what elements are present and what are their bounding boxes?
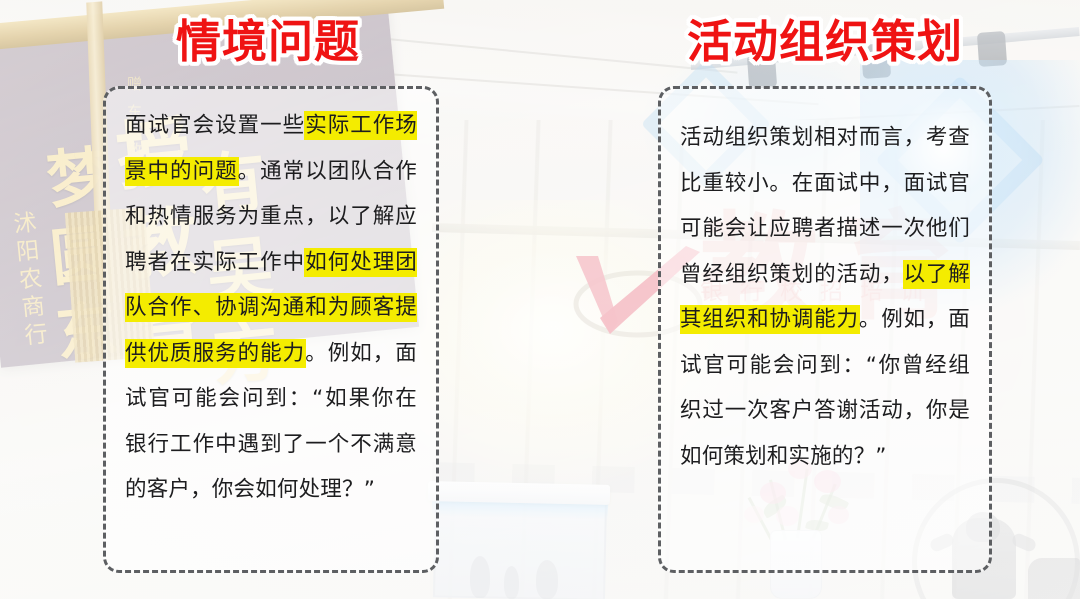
slide-canvas: 教 育 银行校招培训 梦 圆 东 授 教 育 有 吴 方 沭阳农商行 赠 东吴教: [0, 0, 1080, 599]
page-title-right: 活动组织策划: [687, 19, 963, 64]
plain-text-run: 面试官会设置一些: [125, 113, 305, 138]
right-panel-body-text: 活动组织策划相对而言，考查比重较小。在面试中，面试官可能会让应聘者描述一次他们曾…: [680, 115, 970, 479]
text-box-right: 活动组织策划相对而言，考查比重较小。在面试中，面试官可能会让应聘者描述一次他们曾…: [658, 86, 992, 573]
left-panel-body-text: 面试官会设置一些实际工作场景中的问题。通常以团队合作和热情服务为重点，以了解应聘…: [125, 103, 417, 513]
page-title-left: 情境问题: [176, 19, 360, 64]
text-box-left: 面试官会设置一些实际工作场景中的问题。通常以团队合作和热情服务为重点，以了解应聘…: [103, 86, 439, 573]
